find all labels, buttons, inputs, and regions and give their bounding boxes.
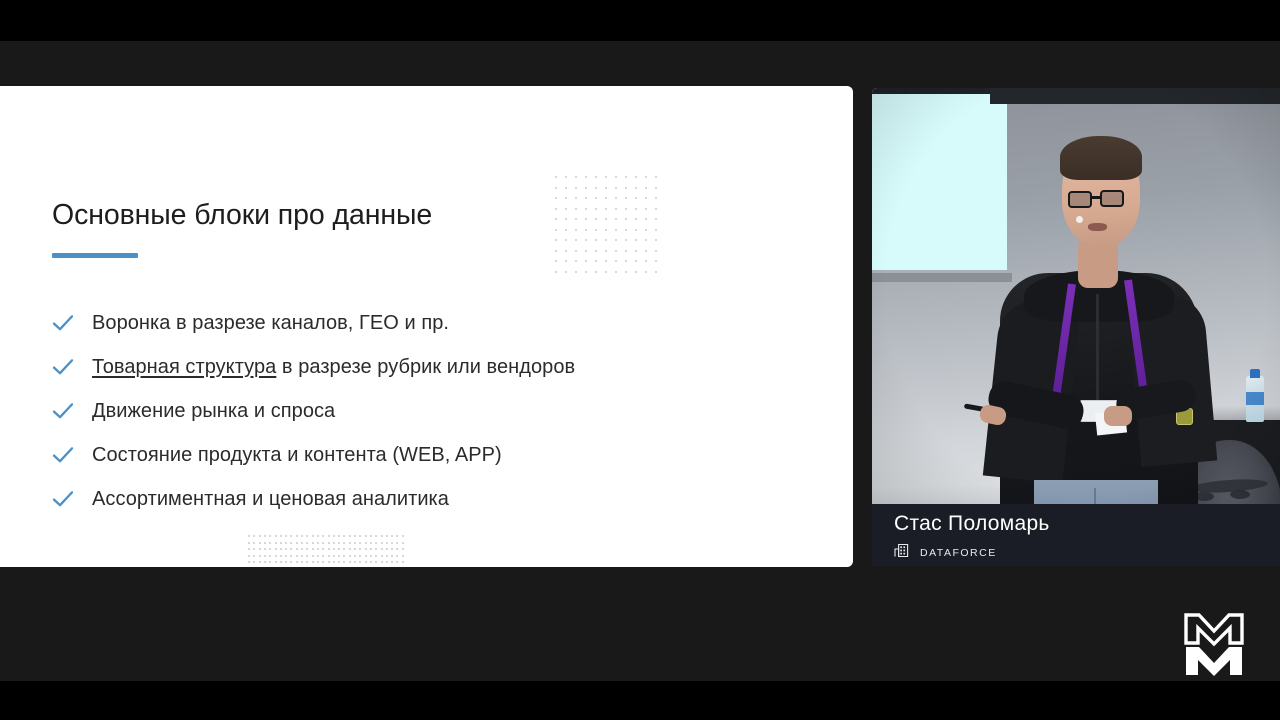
projection-screen bbox=[872, 88, 1007, 273]
list-item: Состояние продукта и контента (WEB, APP) bbox=[52, 433, 752, 477]
water-bottle-label bbox=[1246, 392, 1264, 405]
speaker-mouth bbox=[1088, 223, 1107, 231]
list-item-label: Товарная структура в разрезе рубрик или … bbox=[92, 356, 575, 379]
speaker-nameplate: Стас Поломарь DATAFORCE bbox=[872, 504, 1280, 566]
list-item: Ассортиментная и ценовая аналитика bbox=[52, 477, 752, 521]
speaker-hand-right bbox=[1104, 406, 1132, 426]
letterbox-top bbox=[0, 0, 1280, 41]
bullet-list: Воронка в разрезе каналов, ГЕО и пр. Тов… bbox=[52, 301, 752, 521]
list-item-emphasis: Товарная структура bbox=[92, 356, 276, 378]
list-item-label: Движение рынка и спроса bbox=[92, 400, 335, 423]
bust-eye-right bbox=[1230, 490, 1250, 499]
list-item-label: Ассортиментная и ценовая аналитика bbox=[92, 488, 449, 511]
page-title: Основные блоки про данные bbox=[52, 199, 432, 232]
headset-microphone bbox=[1076, 216, 1083, 223]
presentation-slide: Основные блоки про данные Воронка в разр… bbox=[0, 86, 853, 567]
list-item: Товарная структура в разрезе рубрик или … bbox=[52, 345, 752, 389]
speaker-video-feed[interactable] bbox=[872, 88, 1280, 566]
projection-screen-shadow bbox=[872, 273, 1012, 282]
list-item-label: Воронка в разрезе каналов, ГЕО и пр. bbox=[92, 312, 449, 335]
eyeglasses-bridge bbox=[1092, 196, 1100, 199]
video-player-stage: Основные блоки про данные Воронка в разр… bbox=[0, 0, 1280, 720]
check-icon bbox=[52, 490, 92, 508]
ceiling-beam bbox=[990, 88, 1280, 104]
mm-logo-icon bbox=[1182, 611, 1246, 679]
check-icon bbox=[52, 358, 92, 376]
speaker-company-row: DATAFORCE bbox=[894, 543, 997, 563]
check-icon bbox=[52, 446, 92, 464]
speaker-company: DATAFORCE bbox=[920, 547, 997, 559]
check-icon bbox=[52, 402, 92, 420]
title-underline-rule bbox=[52, 253, 138, 258]
speaker-name: Стас Поломарь bbox=[894, 512, 1050, 536]
eyeglasses-lens-right bbox=[1100, 190, 1124, 207]
list-item: Воронка в разрезе каналов, ГЕО и пр. bbox=[52, 301, 752, 345]
list-item-label: Состояние продукта и контента (WEB, APP) bbox=[92, 444, 502, 467]
building-icon bbox=[894, 543, 909, 563]
water-bottle-cap bbox=[1250, 369, 1260, 378]
eyeglasses-lens-left bbox=[1068, 191, 1092, 208]
letterbox-bottom bbox=[0, 681, 1280, 720]
check-icon bbox=[52, 314, 92, 332]
speaker-hair bbox=[1060, 136, 1142, 180]
list-item: Движение рынка и спроса bbox=[52, 389, 752, 433]
